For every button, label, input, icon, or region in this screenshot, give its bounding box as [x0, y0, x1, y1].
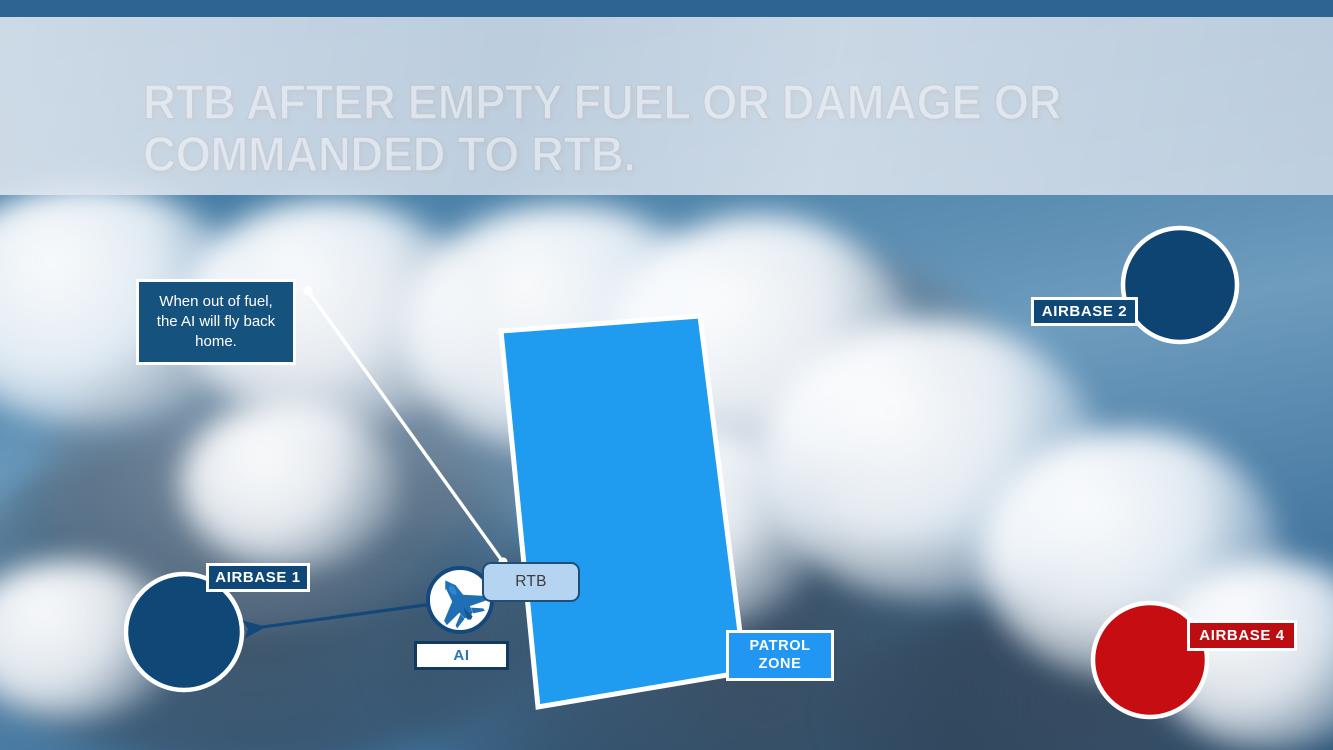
leader-line-start-dot — [303, 286, 312, 295]
patrol-zone-label-line2: ZONE — [759, 656, 802, 673]
airbase-2-label[interactable]: AIRBASE 2 — [1031, 297, 1138, 326]
slide-canvas: RTB AFTER EMPTY FUEL OR DAMAGE OR COMMAN… — [0, 0, 1333, 750]
airbase-4-label[interactable]: AIRBASE 4 — [1187, 620, 1297, 651]
callout-text-box: When out of fuel, the AI will fly back h… — [136, 279, 296, 365]
patrol-zone-label-line1: PATROL — [749, 638, 810, 655]
airbase-2-marker[interactable] — [1123, 228, 1237, 342]
patrol-zone-label[interactable]: PATROL ZONE — [726, 630, 834, 681]
ai-agent-label[interactable]: AI — [414, 641, 509, 670]
route-line-ai-to-airbase1 — [248, 603, 440, 629]
patrol-zone-polygon[interactable] — [501, 316, 745, 707]
rtb-action-tag[interactable]: RTB — [482, 562, 580, 602]
map-vector-layer — [0, 0, 1333, 750]
airbase-1-label[interactable]: AIRBASE 1 — [206, 563, 310, 592]
callout-leader-line — [308, 291, 503, 562]
